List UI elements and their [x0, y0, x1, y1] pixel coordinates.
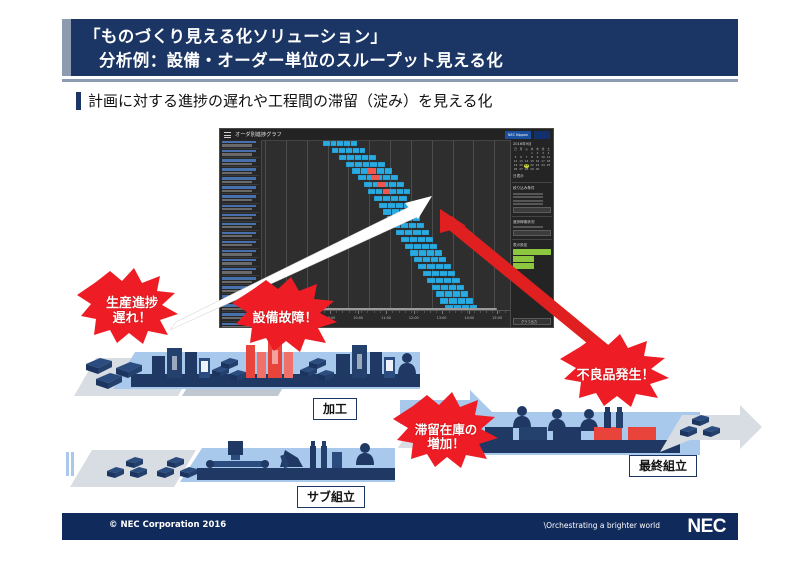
machine-group-2: [336, 345, 395, 378]
process-label-final-assembly: 最終組立: [629, 455, 697, 477]
tagline-text: \Orchestrating a brighter world: [544, 521, 660, 530]
callout-defect-occurrence-text: 不良品発生！: [563, 345, 668, 407]
footer-bar: © NEC Corporation 2016 \Orchestrating a …: [62, 513, 738, 540]
callout-line: 生産進捗: [106, 297, 158, 312]
callout-equipment-failure-text: 設備故障！: [235, 288, 335, 350]
arrow-defect-occurrence: [444, 216, 612, 357]
defective-box: [594, 427, 622, 440]
process-row-sub-assembly: [66, 441, 395, 487]
callout-progress-delay-text: 生産進捗 遅れ！: [82, 277, 182, 347]
copyright-text: © NEC Corporation 2016: [109, 520, 226, 530]
callout-line: 増加！: [415, 437, 478, 451]
slide: 「ものづくり見える化ソリューション」 分析例：設備・オーダー単位のスループット見…: [0, 0, 800, 565]
callout-line: 遅れ！: [106, 312, 158, 327]
callout-line: 不良品発生！: [576, 369, 654, 384]
conveyor-base: [197, 468, 395, 480]
callout-line: 設備故障！: [252, 312, 317, 327]
assembly-boxes: [485, 427, 656, 440]
defective-box: [628, 427, 656, 440]
bottle-products: [310, 441, 342, 468]
callout-line: 滞留在庫の: [415, 423, 478, 437]
nec-logo: NEC: [687, 516, 726, 538]
process-label-sub-assembly: サブ組立: [297, 486, 365, 508]
callout-stagnant-inventory-text: 滞留在庫の 増加！: [396, 404, 496, 470]
stage-platform: [70, 450, 196, 487]
process-label-machining: 加工: [313, 398, 357, 420]
conveyor-base: [472, 440, 680, 453]
